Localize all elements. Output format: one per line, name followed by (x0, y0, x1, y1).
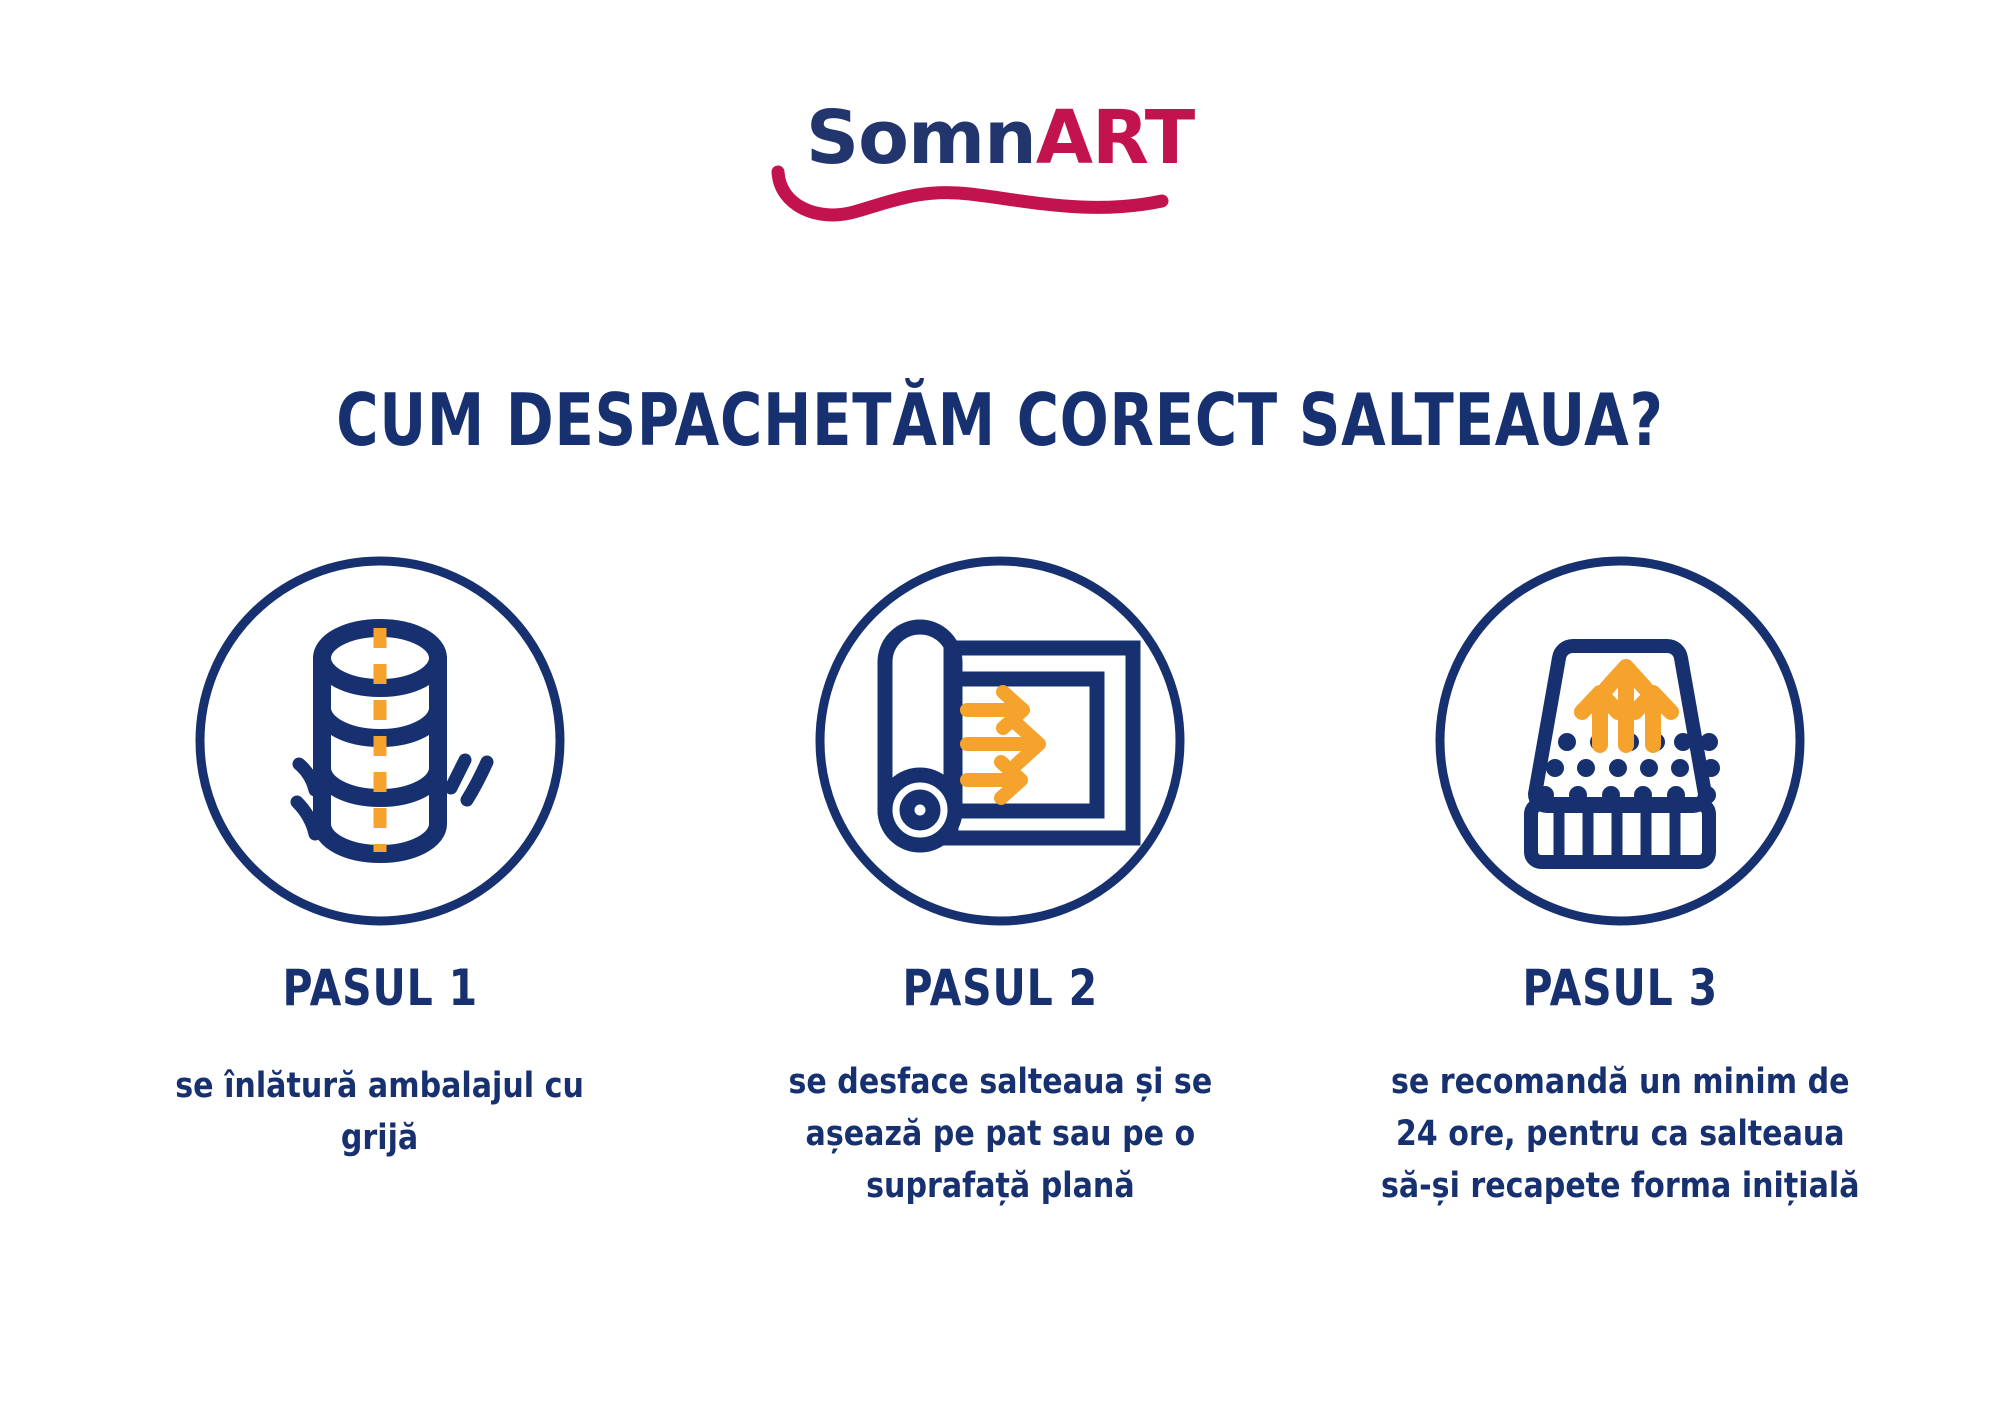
step-description-line: grijă (176, 1112, 585, 1164)
step-title-1: PASUL 1 (282, 960, 478, 1016)
step-description-line: așează pe pat sau pe o (788, 1108, 1212, 1160)
step-description-line: se înlătură ambalajul cu (176, 1060, 585, 1112)
step-title-2: PASUL 2 (902, 960, 1098, 1016)
step-card-3: PASUL 3 se recomandă un minim de 24 ore,… (1340, 552, 1900, 1212)
step-description-2: se desface salteaua și se așează pe pat … (788, 1056, 1212, 1212)
steps-row: PASUL 1 se înlătură ambalajul cu grijă (100, 552, 1900, 1212)
step-description-line: se desface salteaua și se (788, 1056, 1212, 1108)
step-description-line: se recomandă un minim de (1381, 1056, 1860, 1108)
brand-logo: SomnART (0, 96, 2000, 236)
step-description-line: suprafață plană (788, 1160, 1212, 1212)
page-title: CUM DESPACHETĂM CORECT SALTEAUA? (200, 378, 1800, 462)
step-title-3: PASUL 3 (1522, 960, 1718, 1016)
step-description-line: să-și recapete forma inițială (1381, 1160, 1860, 1212)
logo-swoosh-icon (770, 154, 1230, 226)
step-card-1: PASUL 1 se înlătură ambalajul cu grijă (100, 552, 660, 1164)
infographic-page: SomnART CUM DESPACHETĂM CORECT SALTEAUA? (0, 0, 2000, 1414)
expanding-mattress-icon (1431, 552, 1809, 930)
step-description-1: se înlătură ambalajul cu grijă (176, 1060, 585, 1164)
step-description-3: se recomandă un minim de 24 ore, pentru … (1381, 1056, 1860, 1212)
unrolling-mattress-icon (811, 552, 1189, 930)
step-description-line: 24 ore, pentru ca salteaua (1381, 1108, 1860, 1160)
step-card-2: PASUL 2 se desface salteaua și se așează… (720, 552, 1280, 1212)
rolled-mattress-icon (191, 552, 569, 930)
